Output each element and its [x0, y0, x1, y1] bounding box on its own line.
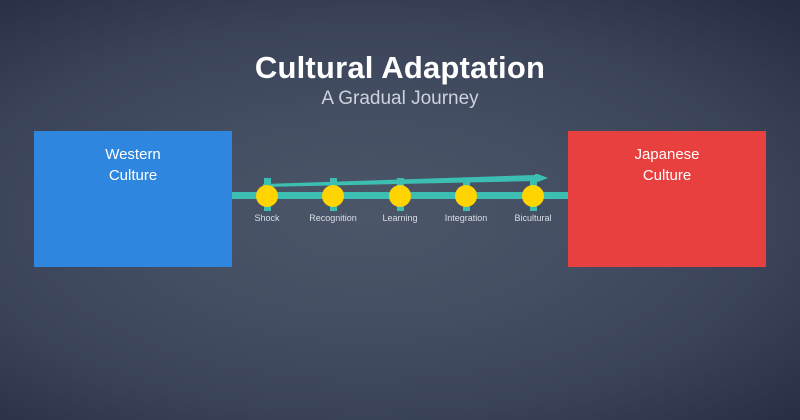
japanese-culture-box: Japanese Culture [568, 131, 766, 267]
progress-arrow-icon [263, 174, 548, 187]
milestone-label: Bicultural [473, 213, 593, 223]
western-culture-label: Western Culture [34, 144, 232, 186]
page-subtitle: A Gradual Journey [0, 88, 800, 110]
page-title: Cultural Adaptation [0, 50, 800, 86]
infographic-canvas: Cultural Adaptation A Gradual Journey We… [0, 0, 800, 420]
japanese-culture-label: Japanese Culture [568, 144, 766, 186]
western-culture-line-1: Western [105, 146, 161, 163]
milestone-node[interactable] [455, 185, 477, 207]
milestone-node[interactable] [389, 185, 411, 207]
japanese-culture-line-2: Culture [643, 167, 691, 184]
milestone-node[interactable] [522, 185, 544, 207]
milestone-node[interactable] [322, 185, 344, 207]
western-culture-line-2: Culture [109, 167, 157, 184]
milestone-node[interactable] [256, 185, 278, 207]
western-culture-box: Western Culture [34, 131, 232, 267]
japanese-culture-line-1: Japanese [634, 146, 699, 163]
